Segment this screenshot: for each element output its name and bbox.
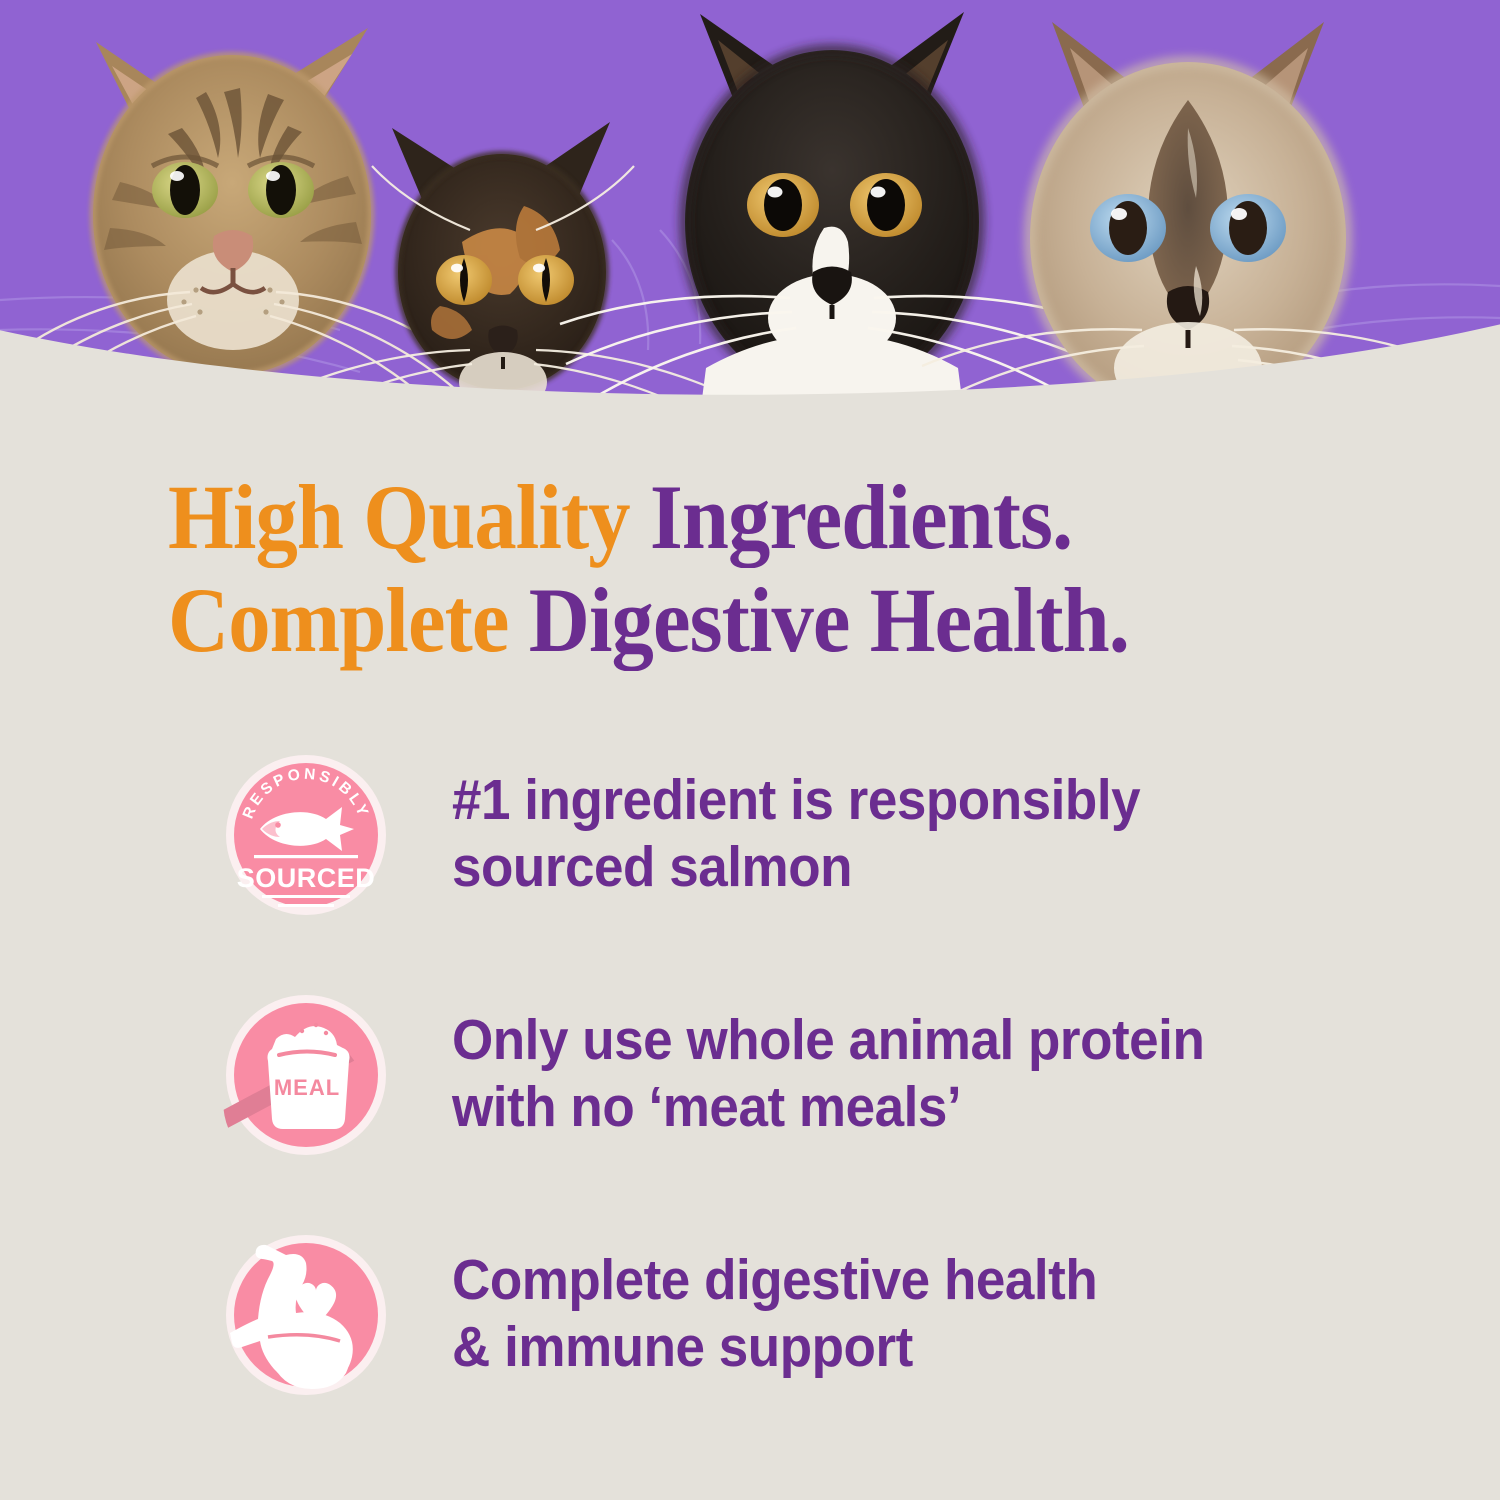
benefit-item-digestive-health: Complete digestive health & immune suppo… <box>0 1225 1500 1465</box>
hero-banner <box>0 0 1500 430</box>
benefit-list: RESPONSIBLY SOURCED #1 ingredient is res… <box>0 745 1500 1465</box>
benefit-text-line2: with no ‘meat meals’ <box>452 1074 1204 1141</box>
headline-line1-accent: High Quality <box>168 466 650 568</box>
page-title: High Quality Ingredients. Complete Diges… <box>168 466 1398 672</box>
benefit-text-no-meat-meals: Only use whole animal protein with no ‘m… <box>452 985 1204 1142</box>
benefit-text-responsibly-sourced: #1 ingredient is responsibly sourced sal… <box>452 745 1140 902</box>
meal-bag-label: MEAL <box>274 1075 340 1100</box>
benefit-item-responsibly-sourced: RESPONSIBLY SOURCED #1 ingredient is res… <box>0 745 1500 985</box>
benefit-text-line1: Complete digestive health <box>452 1247 1097 1314</box>
benefit-text-line1: #1 ingredient is responsibly <box>452 767 1140 834</box>
benefit-text-line2: & immune support <box>452 1314 1097 1381</box>
benefit-text-line2: sourced salmon <box>452 834 1140 901</box>
benefit-text-line1: Only use whole animal protein <box>452 1007 1204 1074</box>
responsibly-sourced-fish-badge-icon: RESPONSIBLY SOURCED <box>216 745 396 925</box>
badge-main-text: SOURCED <box>237 863 376 893</box>
stomach-heart-digestive-icon <box>216 1225 396 1405</box>
benefit-item-no-meat-meals: MEAL Only use whole animal protein with … <box>0 985 1500 1225</box>
cat-photo-group <box>0 0 1500 430</box>
headline-line2-accent: Complete <box>168 569 529 671</box>
headline-line-1: High Quality Ingredients. <box>168 466 1300 569</box>
cat-brown-tabby <box>4 28 462 410</box>
headline-line1-primary: Ingredients. <box>650 466 1072 568</box>
no-meat-meal-bag-icon: MEAL <box>216 985 396 1165</box>
benefit-text-digestive-health: Complete digestive health & immune suppo… <box>452 1225 1097 1382</box>
headline-line2-primary: Digestive Health. <box>529 569 1129 671</box>
headline-line-2: Complete Digestive Health. <box>168 569 1300 672</box>
